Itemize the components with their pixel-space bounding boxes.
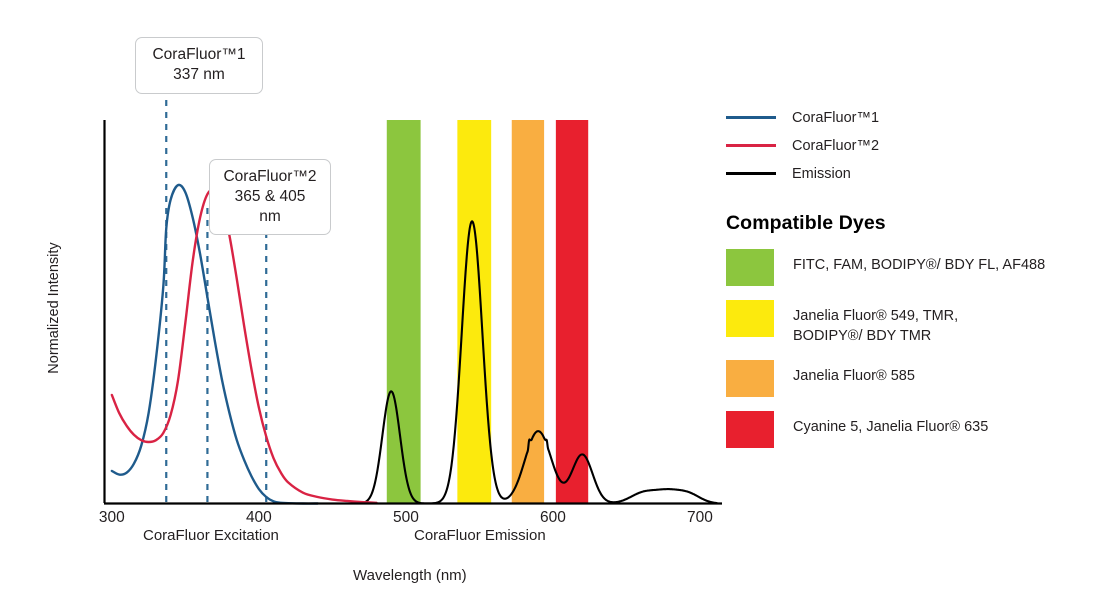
legend-item-label: CoraFluor™2 (792, 138, 879, 154)
callout-line-1: CoraFluor™2 (223, 168, 316, 185)
dye-color-swatch (726, 300, 774, 337)
corafluor-2-callout: CoraFluor™2 365 & 405 nm (209, 159, 331, 235)
legend-item-0: CoraFluor™1 (726, 104, 1096, 131)
legend-item-label: Emission (792, 166, 851, 182)
emission-region-label: CoraFluor Emission (414, 527, 546, 544)
legend-panel: CoraFluor™1CoraFluor™2Emission Compatibl… (726, 104, 1096, 448)
dye-item-2: Janelia Fluor® 585 (726, 360, 1096, 397)
emission-band-group (387, 120, 588, 504)
dye-item-label: FITC, FAM, BODIPY®/ BDY FL, AF488 (793, 249, 1045, 276)
excitation-marker-group (166, 88, 266, 504)
legend-item-1: CoraFluor™2 (726, 132, 1096, 159)
legend-item-2: Emission (726, 160, 1096, 187)
legend-line-swatch (726, 172, 776, 175)
dye-item-3: Cyanine 5, Janelia Fluor® 635 (726, 411, 1096, 448)
legend-line-swatch (726, 116, 776, 119)
emission-band-3 (556, 120, 588, 504)
y-axis-label: Normalized Intensity (46, 218, 62, 398)
x-tick-label-600: 600 (540, 509, 566, 526)
x-tick-label-400: 400 (246, 509, 272, 526)
legend-item-label: CoraFluor™1 (792, 110, 879, 126)
callout-line-2: 365 & 405 nm (222, 187, 318, 227)
callout-line-1: CoraFluor™1 (152, 46, 245, 63)
dye-color-swatch (726, 249, 774, 286)
corafluor-1-callout: CoraFluor™1 337 nm (135, 37, 263, 94)
excitation-region-label: CoraFluor Excitation (143, 527, 279, 544)
legend-line-swatch (726, 144, 776, 147)
x-axis-title: Wavelength (nm) (353, 567, 467, 584)
x-tick-group: 300400500600700 (99, 509, 713, 526)
callout-line-2: 337 nm (148, 65, 250, 85)
corafluor-2-curve (112, 190, 377, 503)
compatible-dyes-list: FITC, FAM, BODIPY®/ BDY FL, AF488Janelia… (726, 249, 1096, 448)
emission-band-0 (387, 120, 421, 504)
x-tick-label-700: 700 (687, 509, 713, 526)
x-tick-label-500: 500 (393, 509, 419, 526)
spectral-chart-figure: 300400500600700 Normalized Intensity Wav… (0, 0, 1110, 612)
dye-color-swatch (726, 360, 774, 397)
series-legend: CoraFluor™1CoraFluor™2Emission (726, 104, 1096, 187)
dye-item-1: Janelia Fluor® 549, TMR,BODIPY®/ BDY TMR (726, 300, 1096, 346)
dye-item-label: Janelia Fluor® 549, TMR,BODIPY®/ BDY TMR (793, 300, 958, 346)
compatible-dyes-title: Compatible Dyes (726, 212, 1096, 235)
dye-color-swatch (726, 411, 774, 448)
dye-item-0: FITC, FAM, BODIPY®/ BDY FL, AF488 (726, 249, 1096, 286)
dye-item-label: Cyanine 5, Janelia Fluor® 635 (793, 411, 988, 438)
dye-item-label: Janelia Fluor® 585 (793, 360, 915, 387)
x-tick-label-300: 300 (99, 509, 125, 526)
